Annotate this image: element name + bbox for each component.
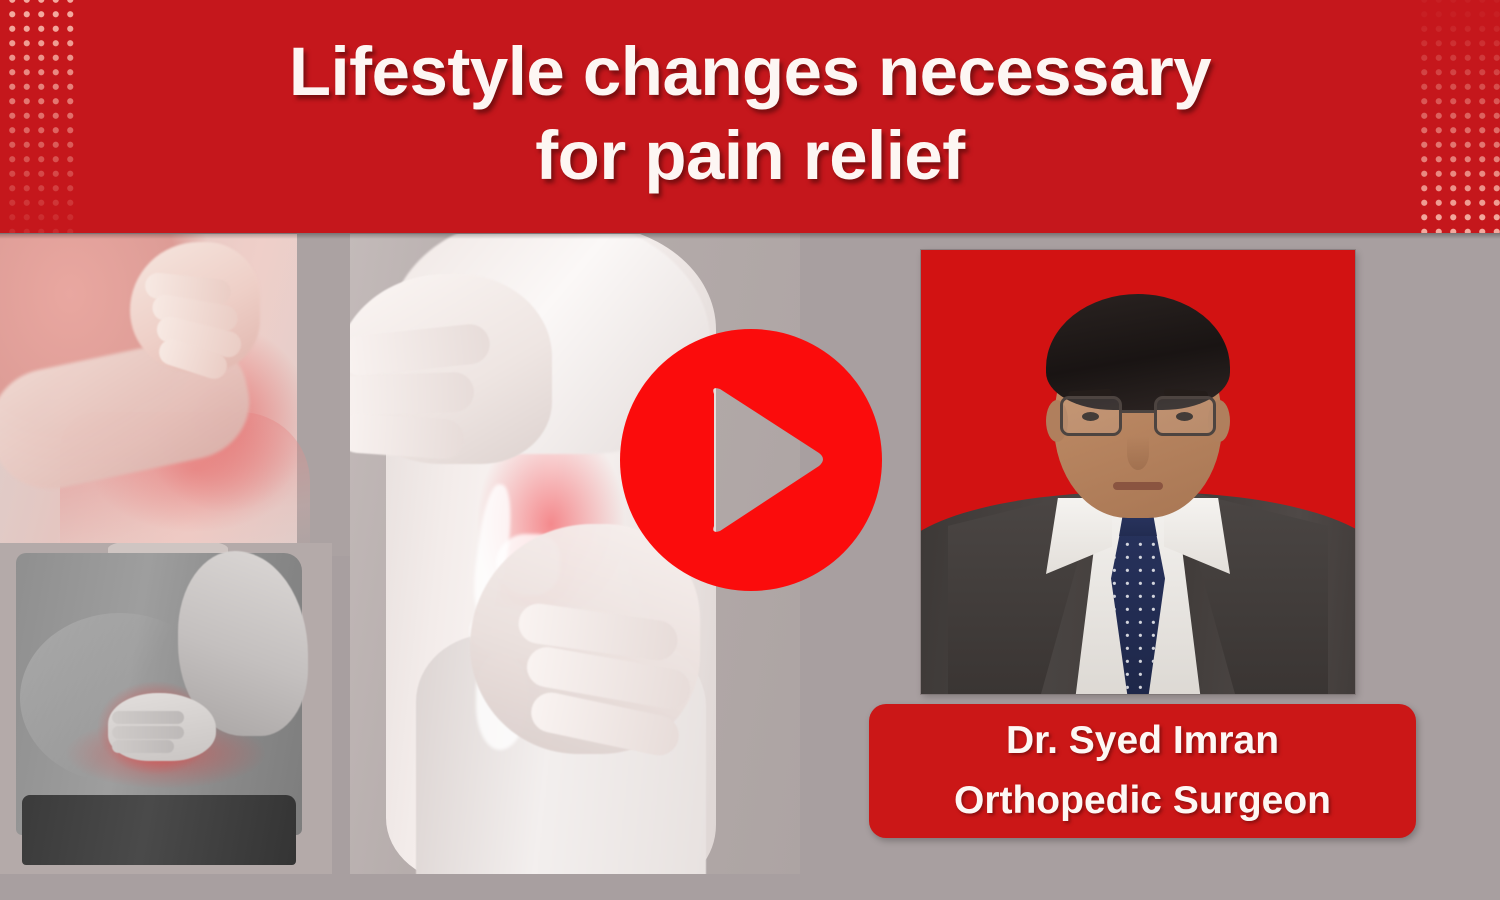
- page-title: Lifestyle changes necessary for pain rel…: [0, 30, 1500, 198]
- lower-back-pain-image: [0, 543, 332, 874]
- play-circle-icon[interactable]: [619, 328, 883, 592]
- doctor-portrait-image: [921, 250, 1355, 694]
- doctor-name-banner: Dr. Syed Imran Orthopedic Surgeon: [869, 704, 1416, 838]
- eyeglass-lens-left: [1060, 396, 1122, 436]
- finger-shape: [112, 711, 184, 724]
- hand-on-back-shape: [108, 693, 216, 761]
- mouth-shape: [1113, 482, 1163, 490]
- doctor-designation: Orthopedic Surgeon: [954, 771, 1331, 831]
- trousers-shape: [22, 795, 296, 865]
- title-banner: Lifestyle changes necessary for pain rel…: [0, 0, 1500, 233]
- banner-shadow-divider: [0, 233, 1500, 239]
- finger-shape: [350, 412, 465, 461]
- finger-shape: [112, 726, 184, 739]
- eyeglasses-icon: [1060, 396, 1216, 438]
- eyeglass-lens-right: [1154, 396, 1216, 436]
- doctor-name: Dr. Syed Imran: [1006, 711, 1279, 771]
- finger-shape: [350, 372, 475, 417]
- video-thumbnail-canvas: Lifestyle changes necessary for pain rel…: [0, 0, 1500, 900]
- title-line-1: Lifestyle changes necessary: [289, 33, 1211, 110]
- eyeglass-bridge: [1122, 410, 1154, 413]
- finger-shape: [112, 740, 174, 753]
- title-line-2: for pain relief: [0, 114, 1500, 198]
- nose-shape: [1127, 436, 1149, 470]
- shoulder-pain-image: [0, 234, 355, 556]
